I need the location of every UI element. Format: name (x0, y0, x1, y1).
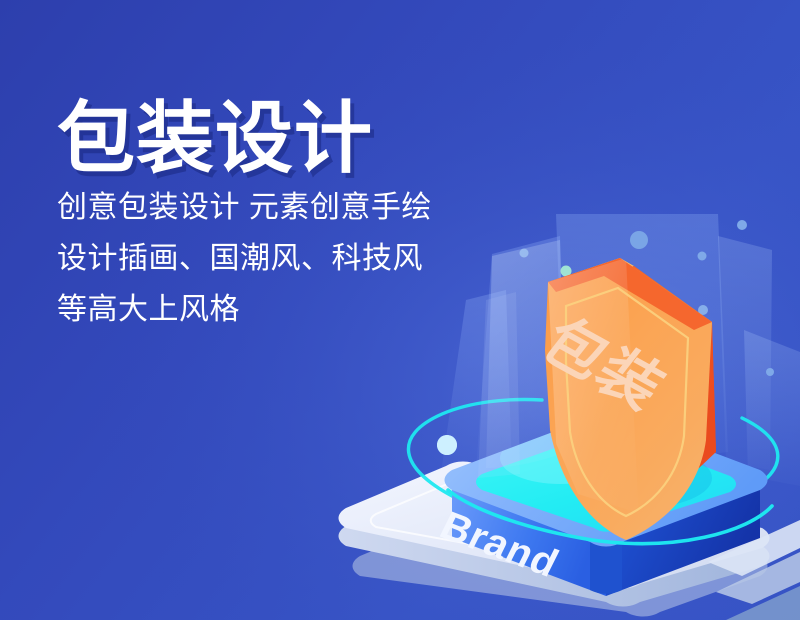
glass-pane-front (478, 292, 520, 478)
packaging-shield-illustration: Brand 包装 (0, 0, 800, 620)
packaging-design-banner: Brand 包装 (0, 0, 800, 620)
dot-icon (437, 435, 457, 455)
